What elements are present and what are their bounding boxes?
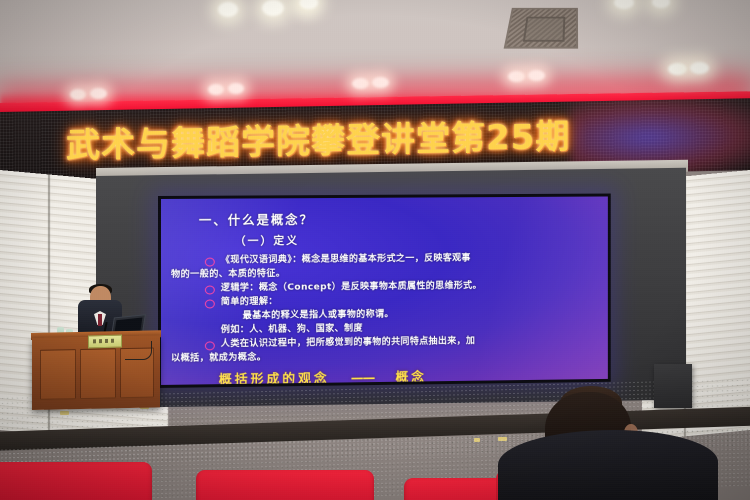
projection-screen: 一、什么是概念？ （一）定义 《现代汉语词典》：概念是思维的基本形式之一，反映客… xyxy=(158,194,611,388)
ceiling-lamp xyxy=(508,71,525,82)
slide-bullet-continuation: 以概括，就成为概念。 xyxy=(171,346,602,365)
slide-sub-line: 最基本的释义是指人或事物的称谓。 xyxy=(243,305,602,323)
ceiling-lamp xyxy=(352,78,369,89)
slide-bullet: 逻辑学：概念（Concept）是反映事物本质属性的思维形式。 xyxy=(205,278,602,296)
slide-conclusion-right: 概念 xyxy=(395,370,426,385)
floor-marker-tape xyxy=(60,411,69,415)
presenter-nameplate xyxy=(88,335,122,349)
ceiling-lamp xyxy=(208,84,224,95)
audience-chair xyxy=(196,470,374,500)
ceiling-lamp xyxy=(690,62,709,74)
slide-conclusion-left: 概括形成的观念 xyxy=(219,371,330,385)
slide-subheading: （一）定义 xyxy=(235,231,602,250)
ceiling-lamp xyxy=(90,88,107,99)
presentation-slide: 一、什么是概念？ （一）定义 《现代汉语词典》：概念是思维的基本形式之一，反映客… xyxy=(161,196,608,384)
loudspeaker-cabinet xyxy=(654,364,692,408)
slide-conclusion-dash: —— xyxy=(337,369,388,385)
ceiling-lamp xyxy=(668,63,687,75)
floor-cable xyxy=(125,341,152,360)
slide-sub-line: 例如：人、机器、狗、国家、制度 xyxy=(221,319,602,337)
ceiling-lamp xyxy=(70,89,86,100)
slide-bullet: 简单的理解： xyxy=(205,291,602,309)
audience-chair xyxy=(0,462,152,500)
led-banner-text: 武术与舞蹈学院攀登讲堂第25期 xyxy=(66,120,570,163)
slide-bullet-continuation: 物的一般的、本质的特征。 xyxy=(171,264,602,282)
presenter-tie xyxy=(98,314,102,326)
podium-panel xyxy=(80,348,116,399)
ceiling-lamp xyxy=(528,70,545,81)
slide-bullet: 《现代汉语词典》：概念是思维的基本形式之一，反映客观事 xyxy=(205,250,602,267)
ceiling-lamp xyxy=(262,0,284,16)
ceiling-lamp xyxy=(372,77,389,88)
ceiling-lamp xyxy=(228,83,244,94)
ceiling-lamp xyxy=(218,2,238,17)
projection-screen-surface: 一、什么是概念？ （一）定义 《现代汉语词典》：概念是思维的基本形式之一，反映客… xyxy=(161,196,608,384)
lecture-hall-photo: 武术与舞蹈学院攀登讲堂第25期 一、什么是概念？ （一）定义 《现代汉语词典》：… xyxy=(0,0,750,500)
podium-panel xyxy=(40,349,76,400)
slide-bullet: 人类在认识过程中，把所感觉到的事物的共同特点抽出来，加 xyxy=(205,332,602,351)
slide-heading: 一、什么是概念？ xyxy=(199,208,602,229)
square-diffuser-vent xyxy=(504,8,578,49)
attendee-body xyxy=(498,430,718,500)
